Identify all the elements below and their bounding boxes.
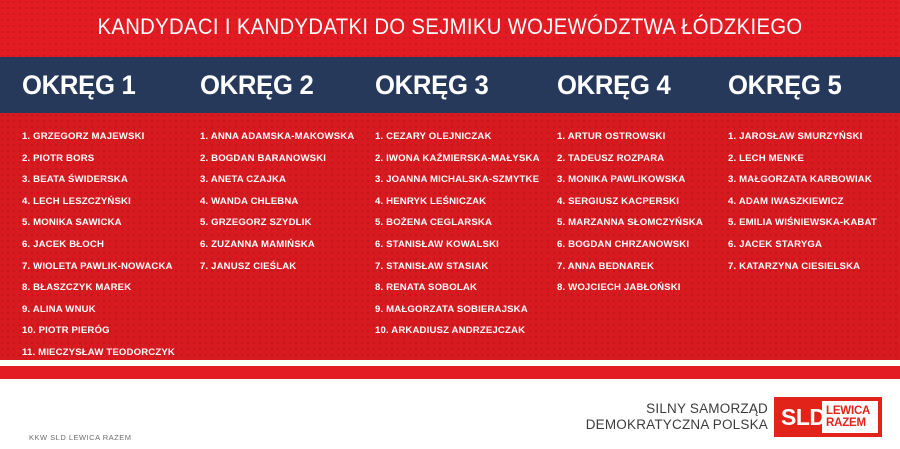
candidate-list: 1. ARTUR OSTROWSKI2. TADEUSZ ROZPARA3. M… [557, 131, 720, 293]
candidate-name: 5. EMILIA WIŚNIEWSKA-KABAT [728, 217, 900, 228]
committee-label: KKW SLD LEWICA RAZEM [29, 433, 132, 442]
district-header-band: OKRĘG 1 OKRĘG 2 OKRĘG 3 OKRĘG 4 OKRĘG 5 [0, 57, 900, 113]
candidate-name: 6. BOGDAN CHRZANOWSKI [557, 239, 720, 250]
candidate-name: 2. BOGDAN BARANOWSKI [200, 153, 365, 164]
campaign-slogan: SILNY SAMORZĄD DEMOKRATYCZNA POLSKA [586, 401, 768, 433]
candidate-name: 10. ARKADIUSZ ANDRZEJCZAK [375, 325, 545, 336]
candidate-name: 6. ZUZANNA MAMIŃSKA [200, 239, 365, 250]
candidate-column-4: 1. ARTUR OSTROWSKI2. TADEUSZ ROZPARA3. M… [545, 131, 720, 360]
lewica-razem-logo-box: LEWICA RAZEM [822, 401, 878, 433]
candidate-name: 4. LECH LESZCZYŃSKI [22, 196, 190, 207]
razem-label: RAZEM [826, 417, 866, 430]
candidate-name: 1. CEZARY OLEJNICZAK [375, 131, 545, 142]
district-header-label: OKRĘG 4 [557, 70, 670, 101]
candidate-name: 8. RENATA SOBOLAK [375, 282, 545, 293]
candidate-name: 6. JACEK STARYGA [728, 239, 900, 250]
poster-footer: KKW SLD LEWICA RAZEM SILNY SAMORZĄD DEMO… [0, 379, 900, 449]
candidate-name: 6. JACEK BŁOCH [22, 239, 190, 250]
candidate-name: 3. ANETA CZAJKA [200, 174, 365, 185]
candidate-name: 4. WANDA CHLEBNA [200, 196, 365, 207]
candidate-column-2: 1. ANNA ADAMSKA-MAKOWSKA2. BOGDAN BARANO… [190, 131, 365, 360]
red-divider-bar [0, 366, 900, 379]
district-header-5: OKRĘG 5 [720, 57, 900, 113]
candidate-lists-area: 1. GRZEGORZ MAJEWSKI2. PIOTR BORS3. BEAT… [0, 113, 900, 360]
candidate-name: 11. MIECZYSŁAW TEODORCZYK [22, 347, 190, 358]
district-header-4: OKRĘG 4 [545, 57, 720, 113]
district-header-label: OKRĘG 5 [728, 70, 841, 101]
district-header-label: OKRĘG 1 [22, 70, 135, 101]
sld-logo-text: SLD [774, 406, 826, 429]
candidate-name: 4. SERGIUSZ KACPERSKI [557, 196, 720, 207]
candidate-column-5: 1. JAROSŁAW SMURZYŃSKI2. LECH MENKE3. MA… [720, 131, 900, 360]
candidate-list: 1. GRZEGORZ MAJEWSKI2. PIOTR BORS3. BEAT… [22, 131, 190, 358]
slogan-line-2: DEMOKRATYCZNA POLSKA [586, 417, 768, 433]
candidate-column-1: 1. GRZEGORZ MAJEWSKI2. PIOTR BORS3. BEAT… [0, 131, 190, 360]
district-header-label: OKRĘG 3 [375, 70, 488, 101]
candidate-name: 2. PIOTR BORS [22, 153, 190, 164]
candidate-column-3: 1. CEZARY OLEJNICZAK2. IWONA KAŹMIERSKA-… [365, 131, 545, 360]
candidate-name: 2. LECH MENKE [728, 153, 900, 164]
poster-banner: KANDYDACI I KANDYDATKI DO SEJMIKU WOJEWÓ… [0, 0, 900, 57]
candidate-name: 7. KATARZYNA CIESIELSKA [728, 261, 900, 272]
district-header-label: OKRĘG 2 [200, 70, 313, 101]
candidate-name: 8. BŁASZCZYK MAREK [22, 282, 190, 293]
candidate-list: 1. JAROSŁAW SMURZYŃSKI2. LECH MENKE3. MA… [728, 131, 900, 272]
candidate-name: 1. ARTUR OSTROWSKI [557, 131, 720, 142]
candidate-name: 5. GRZEGORZ SZYDLIK [200, 217, 365, 228]
candidate-name: 1. GRZEGORZ MAJEWSKI [22, 131, 190, 142]
candidate-name: 7. WIOLETA PAWLIK-NOWACKA [22, 261, 190, 272]
candidate-name: 4. HENRYK LEŚNICZAK [375, 196, 545, 207]
district-header-3: OKRĘG 3 [365, 57, 545, 113]
election-poster: KANDYDACI I KANDYDATKI DO SEJMIKU WOJEWÓ… [0, 0, 900, 449]
district-header-2: OKRĘG 2 [190, 57, 365, 113]
candidate-name: 10. PIOTR PIERÓG [22, 325, 190, 336]
candidate-list: 1. ANNA ADAMSKA-MAKOWSKA2. BOGDAN BARANO… [200, 131, 365, 272]
candidate-name: 3. MONIKA PAWLIKOWSKA [557, 174, 720, 185]
candidate-name: 2. IWONA KAŹMIERSKA-MAŁYSKA [375, 153, 545, 164]
candidate-name: 7. JANUSZ CIEŚLAK [200, 261, 365, 272]
candidate-name: 3. BEATA ŚWIDERSKA [22, 174, 190, 185]
candidate-list: 1. CEZARY OLEJNICZAK2. IWONA KAŹMIERSKA-… [375, 131, 545, 336]
district-header-1: OKRĘG 1 [0, 57, 190, 113]
candidate-name: 1. ANNA ADAMSKA-MAKOWSKA [200, 131, 365, 142]
candidate-name: 3. MAŁGORZATA KARBOWIAK [728, 174, 900, 185]
candidate-name: 7. ANNA BEDNAREK [557, 261, 720, 272]
sld-logo: SLD LEWICA RAZEM [774, 397, 882, 437]
lewica-label: LEWICA [826, 405, 870, 418]
slogan-line-1: SILNY SAMORZĄD [586, 401, 768, 417]
candidate-name: 2. TADEUSZ ROZPARA [557, 153, 720, 164]
candidate-name: 7. STANISŁAW STASIAK [375, 261, 545, 272]
candidate-name: 9. MAŁGORZATA SOBIERAJSKA [375, 304, 545, 315]
candidate-name: 5. MARZANNA SŁOMCZYŃSKA [557, 217, 720, 228]
candidate-name: 4. ADAM IWASZKIEWICZ [728, 196, 900, 207]
candidate-name: 5. BOŻENA CEGLARSKA [375, 217, 545, 228]
candidate-name: 1. JAROSŁAW SMURZYŃSKI [728, 131, 900, 142]
candidate-name: 8. WOJCIECH JABŁOŃSKI [557, 282, 720, 293]
page-title: KANDYDACI I KANDYDATKI DO SEJMIKU WOJEWÓ… [36, 13, 864, 41]
candidate-name: 5. MONIKA SAWICKA [22, 217, 190, 228]
candidate-name: 3. JOANNA MICHALSKA-SZMYTKE [375, 174, 545, 185]
candidate-name: 6. STANISŁAW KOWALSKI [375, 239, 545, 250]
candidate-name: 9. ALINA WNUK [22, 304, 190, 315]
